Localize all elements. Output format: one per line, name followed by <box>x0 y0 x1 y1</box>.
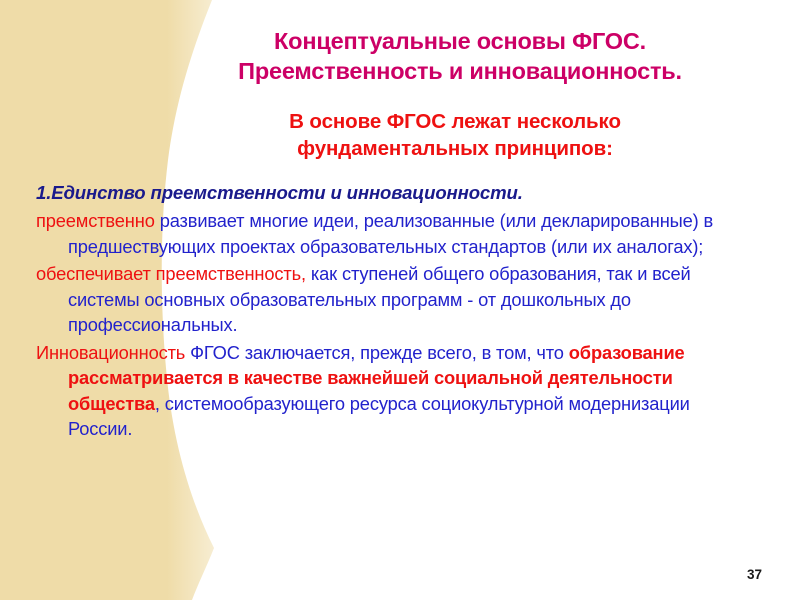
paragraph-3-red-lead: обеспечивает преемственность, <box>36 263 306 284</box>
title-line-1: Концептуальные основы ФГОС. <box>140 26 780 56</box>
paragraph-2-text: развивает многие идеи, реализованные (ил… <box>68 210 713 257</box>
subtitle-line-1: В основе ФГОС лежат несколько <box>150 108 760 135</box>
title-line-2: Преемственность и инновационность. <box>140 56 780 86</box>
paragraph-3: обеспечивает преемственность,как ступене… <box>36 261 748 338</box>
paragraph-2: преемственноразвивает многие идеи, реали… <box>36 208 748 259</box>
paragraph-4-blue-tail: , системообразующего ресурса социокульту… <box>68 393 690 440</box>
paragraph-4-blue-mid: ФГОС заключается, прежде всего, в том, ч… <box>190 342 564 363</box>
paragraph-4: ИнновационностьФГОС заключается, прежде … <box>36 340 748 442</box>
paragraph-4-red-lead: Инновационность <box>36 342 185 363</box>
body-block: 1.Единство преемственности и инновационн… <box>36 180 748 444</box>
slide-content: Концептуальные основы ФГОС. Преемственно… <box>0 0 800 600</box>
title-block: Концептуальные основы ФГОС. Преемственно… <box>140 26 780 86</box>
bullet-item-1-text: 1.Единство преемственности и инновационн… <box>36 182 523 203</box>
paragraph-2-red-lead: преемственно <box>36 210 155 231</box>
subtitle-line-2: фундаментальных принципов: <box>150 135 760 162</box>
slide-canvas: Концептуальные основы ФГОС. Преемственно… <box>0 0 800 600</box>
subtitle-block: В основе ФГОС лежат несколько фундамента… <box>150 108 760 162</box>
bullet-item-1: 1.Единство преемственности и инновационн… <box>36 180 748 205</box>
page-number: 37 <box>747 567 762 582</box>
